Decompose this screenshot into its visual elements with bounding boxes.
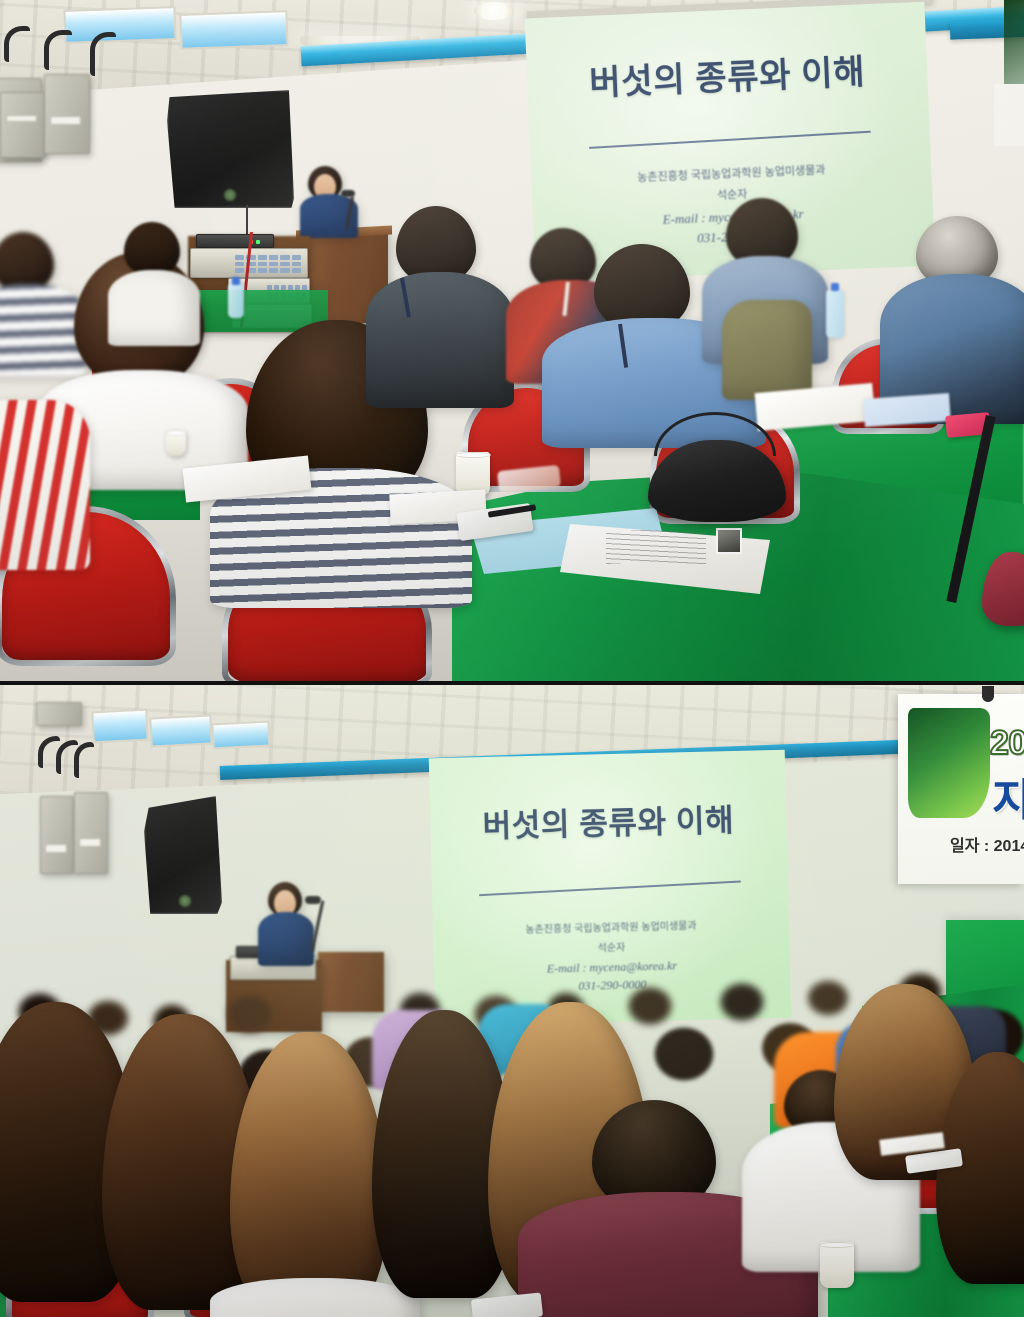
slide-title: 버섯의 종류와 이해 [588, 44, 866, 105]
booklet-thumbnail [716, 528, 742, 554]
attendee [0, 360, 90, 560]
slide-divider [479, 880, 741, 896]
collage-seam [0, 681, 1024, 685]
bottom-photo: 버섯의 종류와 이해 농촌진흥청 국립농업과학원 농업미생물과 석순자 E-ma… [0, 684, 1024, 1317]
attendee-torso [722, 300, 812, 400]
event-banner: 20 지 일자 : 2014 [898, 694, 1024, 884]
photo-collage: 버섯의 종류와 이해 농촌진흥청 국립농업과학원 농업미생물과 석순자 E-ma… [0, 0, 1024, 1317]
banner-hook [982, 686, 994, 702]
attendee [722, 300, 812, 400]
microphone-head [305, 896, 321, 904]
banner-graphic [908, 708, 990, 818]
av-unit [196, 234, 274, 248]
banner-corner [1004, 0, 1024, 84]
slide-title: 버섯의 종류와 이해 [482, 795, 735, 846]
attendee [884, 216, 1024, 416]
electrical-conduit [74, 742, 94, 778]
covered-monitor [167, 90, 294, 208]
top-photo: 버섯의 종류와 이해 농촌진흥청 국립농업과학원 농업미생물과 석순자 E-ma… [0, 0, 1024, 684]
slide-organization: 농촌진흥청 국립농업과학원 농업미생물과 [525, 917, 696, 936]
banner-korean-text: 지 [992, 764, 1024, 828]
clerestory-window [91, 709, 149, 744]
attendee [382, 206, 500, 406]
ceiling-light [474, 2, 514, 20]
water-bottle [826, 290, 844, 338]
clerestory-window [211, 721, 270, 750]
clerestory-window [149, 714, 212, 747]
attendee-torso [0, 400, 90, 570]
attendee-torso [108, 270, 200, 346]
attendee-head [124, 222, 180, 276]
electrical-panel [36, 702, 82, 726]
electrical-panel [44, 74, 90, 154]
slide-divider [589, 131, 871, 149]
banner-paper [994, 84, 1024, 146]
clerestory-window [179, 10, 288, 50]
covered-monitor [144, 796, 222, 914]
attendee-torso [366, 272, 514, 408]
attendee-head [0, 232, 54, 292]
banner-year-text: 20 [990, 724, 1024, 763]
electrical-conduit [44, 30, 72, 70]
paper-cup [820, 1242, 854, 1288]
electrical-panel [74, 792, 108, 874]
clerestory-window [63, 6, 176, 44]
electrical-conduit [90, 32, 116, 76]
attendee-hair [936, 1052, 1024, 1284]
banner-date-text: 일자 : 2014 [950, 832, 1024, 856]
handout-booklet [863, 393, 951, 427]
electrical-conduit [4, 26, 30, 62]
electrical-panel [40, 796, 74, 874]
attendee [936, 1052, 1024, 1292]
slide-organization: 농촌진흥청 국립농업과학원 농업미생물과 [637, 161, 826, 185]
attendee [108, 222, 200, 342]
booklet-text-block [606, 530, 706, 564]
water-bottle [228, 284, 244, 318]
attendee-hair [230, 1032, 388, 1317]
microphone-head [341, 190, 355, 197]
electrical-panel [0, 92, 46, 158]
paper-cup [166, 430, 186, 456]
